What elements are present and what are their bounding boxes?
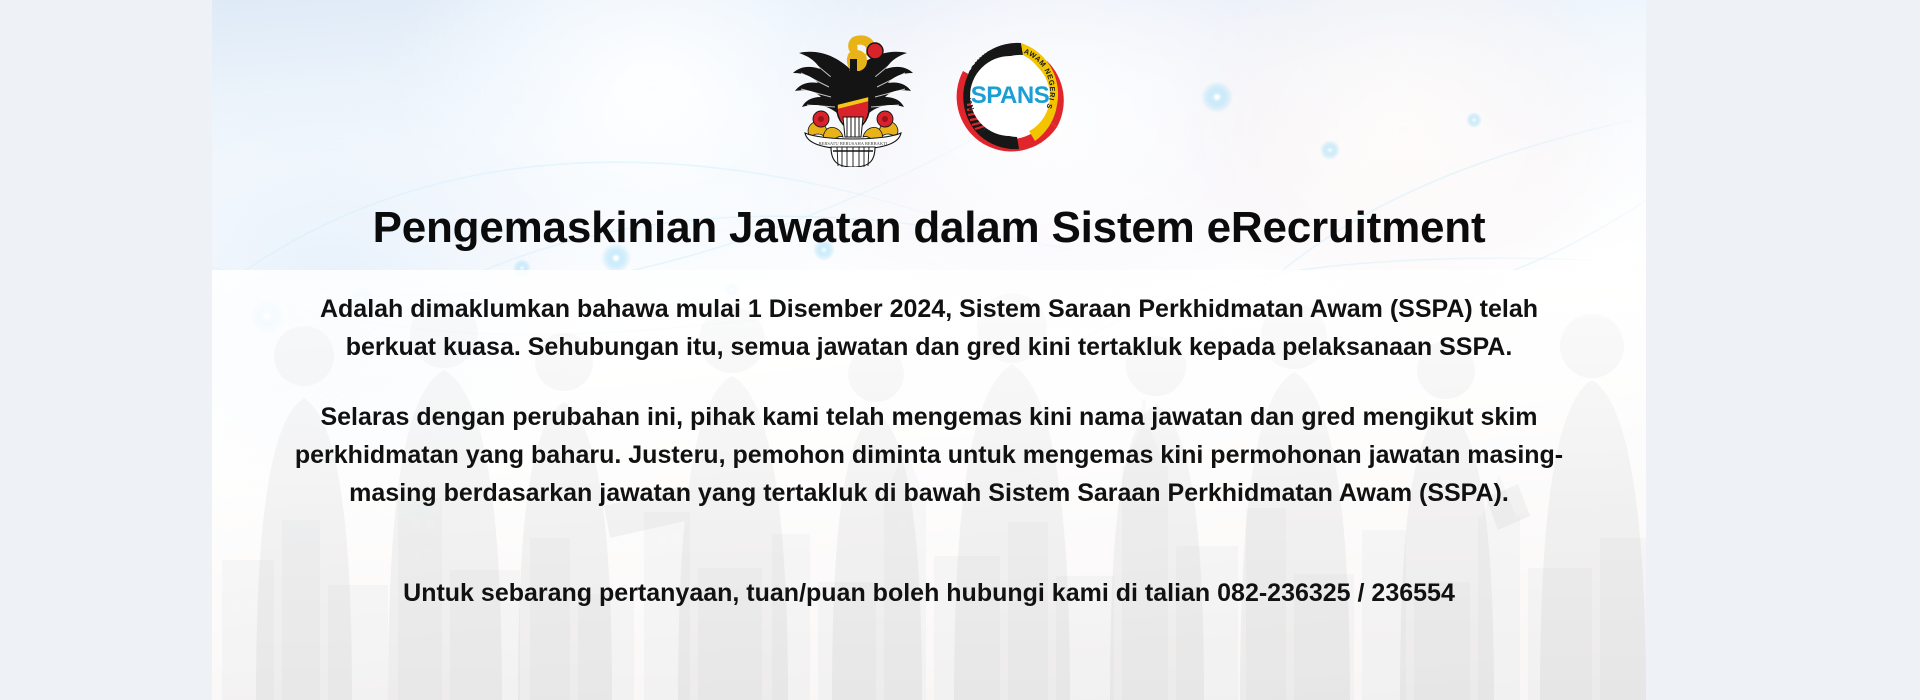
logo-row: BERSATU BERUSAHA BERBAKTI bbox=[787, 22, 1071, 170]
announcement-paragraph-1: Adalah dimaklumkan bahawa mulai 1 Disemb… bbox=[299, 290, 1559, 366]
announcement-banner: BERSATU BERUSAHA BERBAKTI bbox=[212, 0, 1646, 700]
page-background: BERSATU BERUSAHA BERBAKTI bbox=[0, 0, 1920, 700]
spans-logo-icon: SURUHANJAYA PERKHIDMATAN AWAM NEGERI SAR… bbox=[949, 35, 1071, 157]
announcement-paragraph-2: Selaras dengan perubahan ini, pihak kami… bbox=[284, 398, 1574, 512]
contact-information: Untuk sebarang pertanyaan, tuan/puan bol… bbox=[403, 574, 1455, 612]
page-title: Pengemaskinian Jawatan dalam Sistem eRec… bbox=[373, 204, 1486, 252]
sarawak-coat-of-arms-icon: BERSATU BERUSAHA BERBAKTI bbox=[787, 25, 919, 167]
svg-text:SPANS: SPANS bbox=[971, 82, 1050, 109]
svg-text:BERSATU BERUSAHA BERBAKTI: BERSATU BERUSAHA BERBAKTI bbox=[819, 141, 888, 146]
